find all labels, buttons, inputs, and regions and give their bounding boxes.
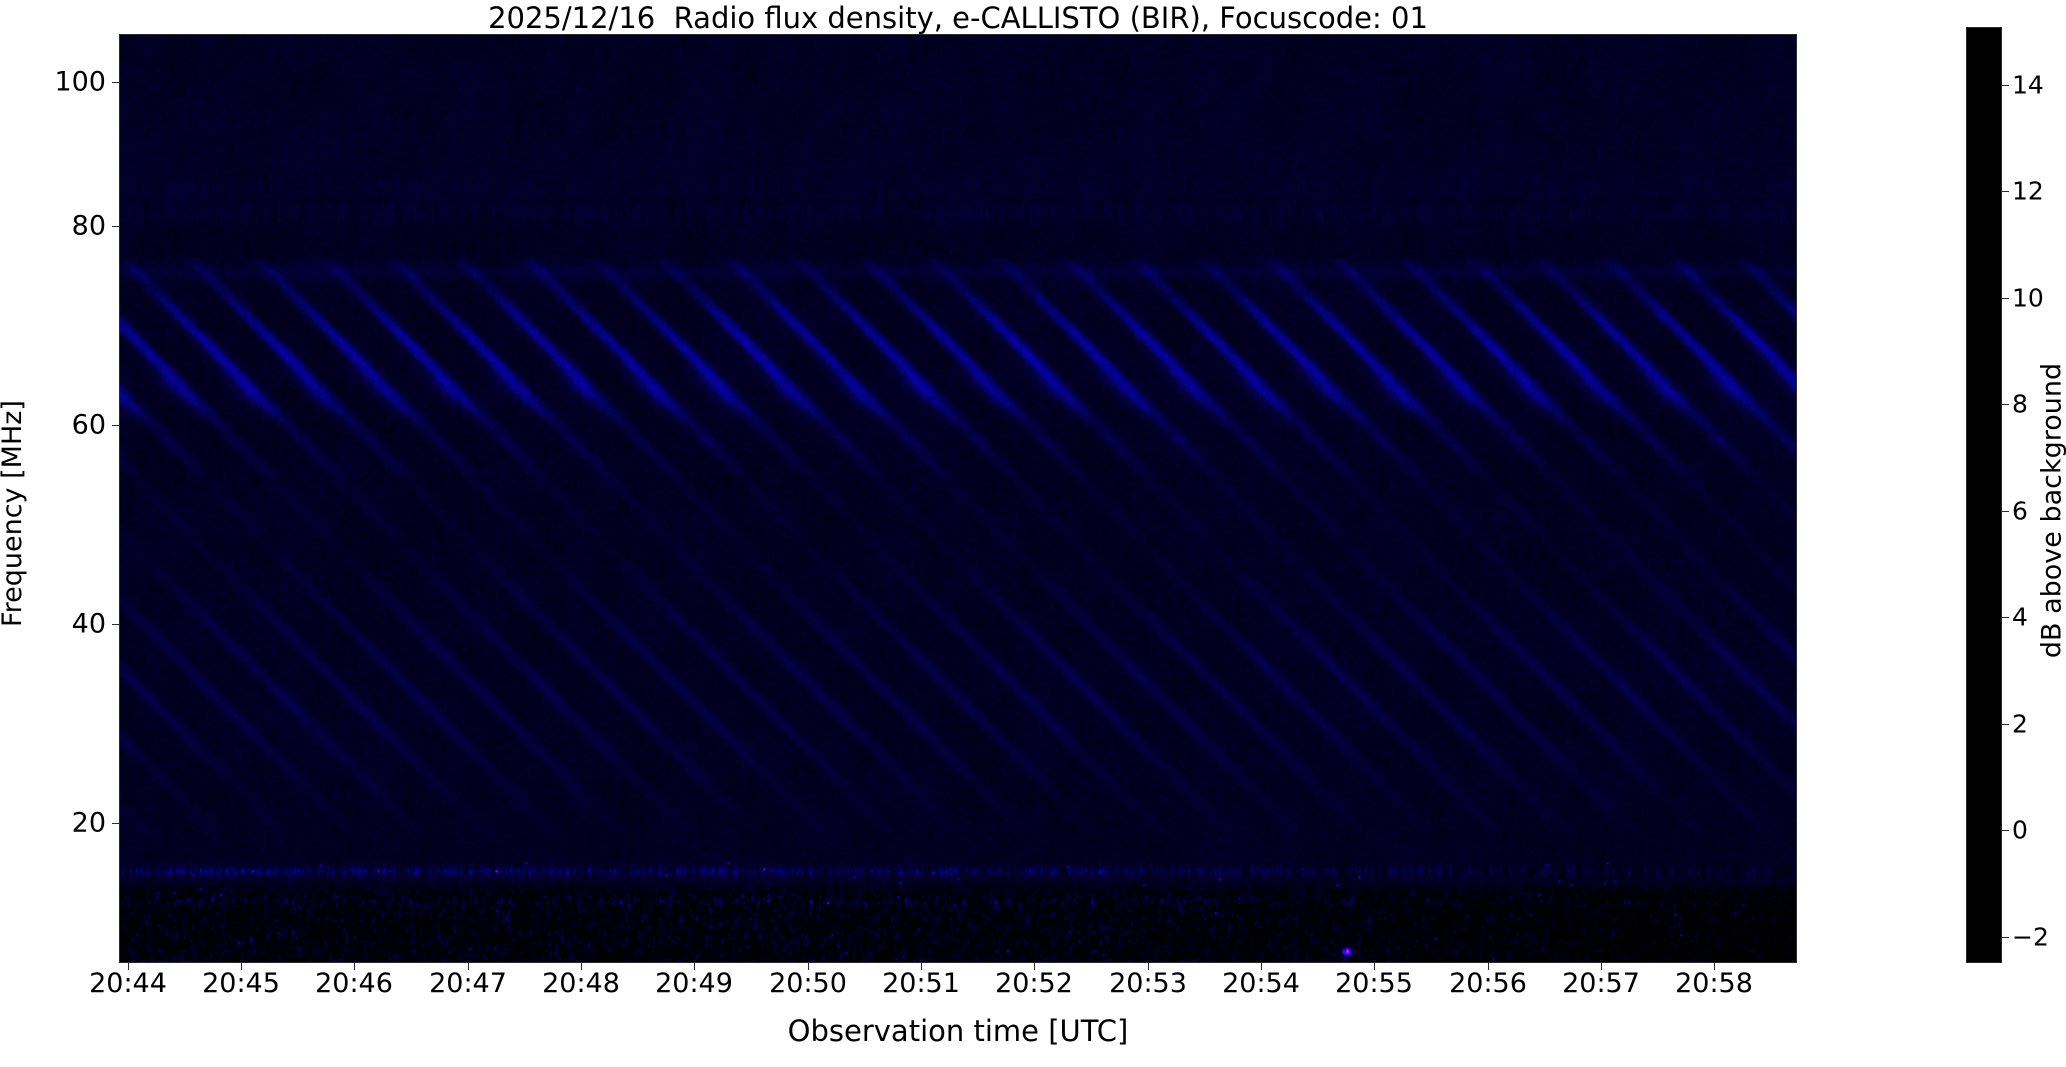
y-axis-label: Frequency [MHz] [0, 49, 28, 978]
colorbar-tick-mark-14 [2002, 85, 2009, 86]
colorbar-gradient [1967, 28, 2001, 962]
xtick-label-2: 20:46 [315, 968, 393, 999]
colorbar-tick-label-4: 4 [2012, 603, 2028, 632]
figure-title: 2025/12/16 Radio flux density, e-CALLIST… [119, 2, 1797, 34]
colorbar-tick-mark-minus2 [2002, 937, 2009, 938]
colorbar-tick-mark-6 [2002, 511, 2009, 512]
colorbar-axis-label: dB above background [2037, 43, 2066, 979]
xtick-label-13: 20:57 [1562, 968, 1640, 999]
xtick-label-9: 20:53 [1109, 968, 1187, 999]
xtick-label-10: 20:54 [1222, 968, 1300, 999]
xtick-label-12: 20:56 [1449, 968, 1527, 999]
xtick-label-4: 20:48 [542, 968, 620, 999]
colorbar-tick-label-2: 2 [2012, 710, 2028, 739]
colorbar-tick-mark-12 [2002, 191, 2009, 192]
colorbar [1966, 27, 2002, 963]
spectrogram-plot-area [119, 34, 1797, 963]
colorbar-tick-mark-4 [2002, 617, 2009, 618]
colorbar-tick-mark-10 [2002, 298, 2009, 299]
colorbar-tick-mark-2 [2002, 724, 2009, 725]
xtick-label-14: 20:58 [1675, 968, 1753, 999]
xtick-label-6: 20:50 [769, 968, 847, 999]
spectrogram-figure: 2025/12/16 Radio flux density, e-CALLIST… [0, 0, 2066, 1067]
colorbar-tick-label-0: 0 [2012, 816, 2028, 845]
xtick-label-7: 20:51 [882, 968, 960, 999]
colorbar-tick-label-8: 8 [2012, 390, 2028, 419]
colorbar-tick-label-6: 6 [2012, 497, 2028, 526]
xtick-label-5: 20:49 [655, 968, 733, 999]
x-axis-label: Observation time [UTC] [119, 1014, 1797, 1048]
xtick-label-1: 20:45 [202, 968, 280, 999]
xtick-label-11: 20:55 [1335, 968, 1413, 999]
spectrogram-image [120, 35, 1796, 962]
xtick-label-8: 20:52 [995, 968, 1073, 999]
xtick-label-3: 20:47 [429, 968, 507, 999]
colorbar-tick-mark-8 [2002, 404, 2009, 405]
xtick-label-0: 20:44 [89, 968, 167, 999]
colorbar-tick-mark-0 [2002, 830, 2009, 831]
